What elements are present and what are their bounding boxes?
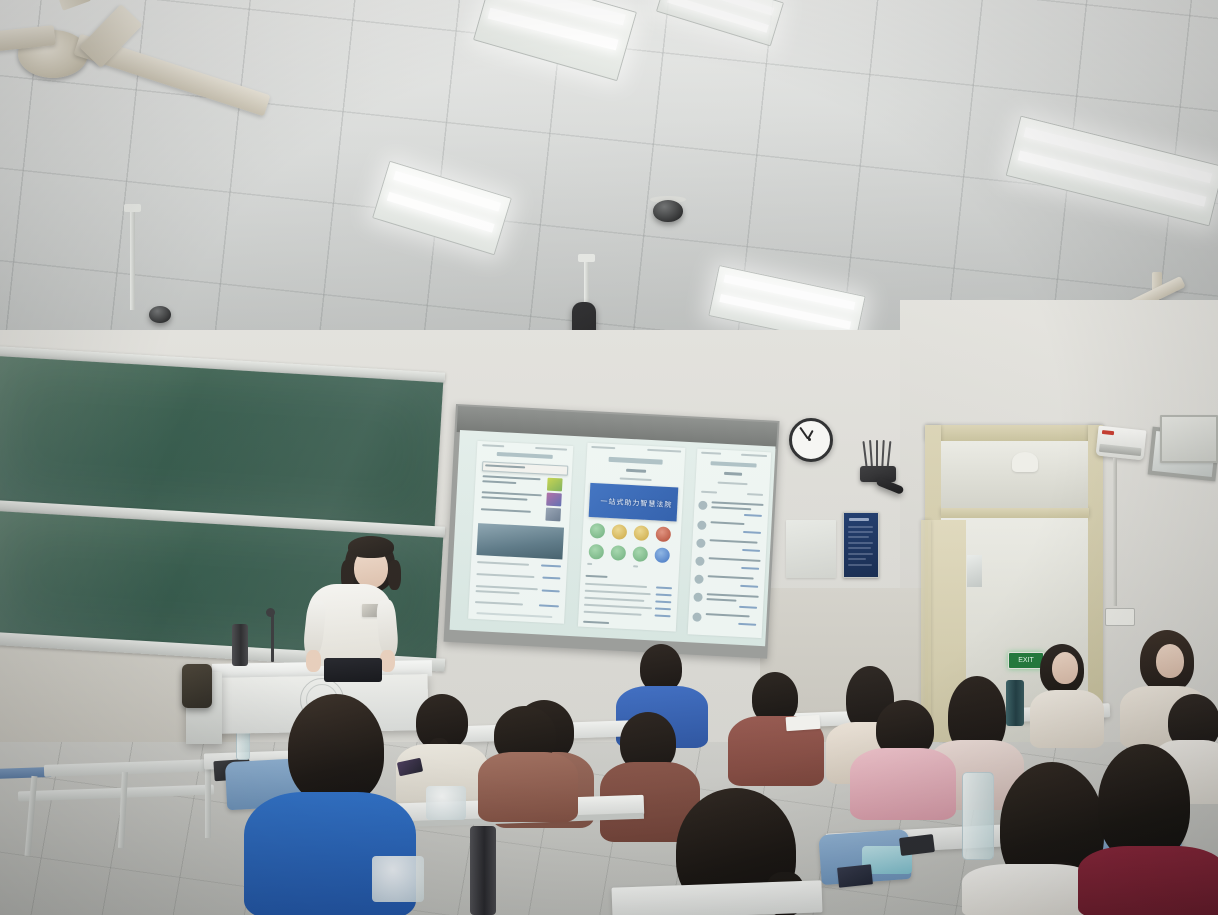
desk-papers bbox=[786, 715, 821, 731]
slide-panel-right bbox=[688, 448, 772, 638]
presenter-skirt bbox=[324, 658, 382, 682]
emergency-exit-sign: EXIT bbox=[1008, 652, 1044, 669]
classroom-scene: 一站式助力智慧法院 bbox=[0, 0, 1218, 915]
portal-badge[interactable] bbox=[610, 545, 626, 561]
upper-chalkboard bbox=[0, 356, 443, 527]
slide-panel-center: 一站式助力智慧法院 bbox=[578, 443, 685, 632]
notebook bbox=[837, 864, 873, 887]
panel-right-header bbox=[711, 461, 757, 467]
wall-poster bbox=[1160, 415, 1218, 463]
wall-conduit bbox=[1113, 458, 1117, 606]
transom-glass bbox=[941, 441, 1088, 508]
banner-text: 一站式助力智慧法院 bbox=[600, 496, 672, 510]
podium-microphone bbox=[271, 614, 274, 662]
panel-left-searchbar[interactable] bbox=[482, 461, 568, 475]
classroom-notice-placard bbox=[843, 512, 879, 578]
screen-surface: 一站式助力智慧法院 bbox=[450, 430, 776, 646]
portal-badge[interactable] bbox=[633, 525, 649, 541]
panel-center-banner: 一站式助力智慧法院 bbox=[589, 483, 679, 522]
portal-badge[interactable] bbox=[655, 526, 671, 542]
exit-sign-text: EXIT bbox=[1018, 657, 1034, 664]
portal-badge[interactable] bbox=[632, 546, 648, 562]
clock-minute-hand bbox=[799, 427, 809, 439]
chair-back-dark bbox=[182, 664, 212, 708]
light-switch-panel[interactable] bbox=[1105, 608, 1135, 626]
water-bottle bbox=[962, 772, 994, 860]
slide-panel-left bbox=[468, 441, 573, 624]
portal-badge[interactable] bbox=[588, 544, 604, 560]
presenter-hair-front bbox=[348, 536, 394, 558]
portal-badge[interactable] bbox=[590, 523, 606, 539]
plastic-bag bbox=[372, 856, 424, 902]
thermos-flask bbox=[1006, 680, 1024, 726]
panel-left-header bbox=[497, 452, 553, 459]
wall-panel-box bbox=[786, 520, 836, 578]
thermos-flask bbox=[232, 624, 248, 666]
plastic-bag bbox=[426, 786, 466, 820]
door-vision-panel bbox=[967, 555, 982, 587]
portal-badge[interactable] bbox=[611, 524, 627, 540]
panel-left-photo bbox=[476, 523, 564, 559]
panel-center-header bbox=[609, 457, 663, 465]
thermos-flask bbox=[470, 826, 496, 915]
dome-camera-corner bbox=[149, 306, 171, 323]
portal-badge[interactable] bbox=[654, 547, 670, 563]
air-conditioner-unit bbox=[1096, 426, 1147, 461]
